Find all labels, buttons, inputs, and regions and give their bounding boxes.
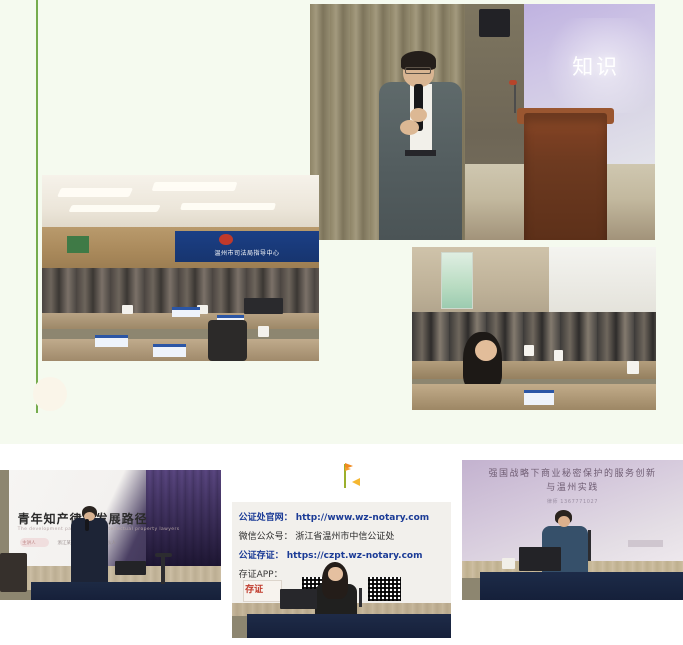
photo-notary-slide-scene: 公证处官网： http://www.wz-notary.com 微信公众号： 浙… [232, 502, 451, 638]
name-plate-front [524, 390, 553, 404]
flag-right-icon [352, 478, 360, 486]
front-table [480, 572, 683, 600]
article-page: 知识 [0, 0, 683, 645]
cream-circle-decoration [33, 377, 67, 411]
slide-title-line-2: 与温州实践 [469, 480, 677, 493]
name-plate-4 [153, 344, 186, 356]
audience-laptop [244, 298, 283, 315]
green-vertical-rule [36, 0, 38, 413]
paper-cup-1 [122, 305, 133, 314]
slide-line-app: 存证APP： [239, 567, 283, 580]
ceiling-light-3 [68, 205, 160, 212]
national-emblem-icon [219, 234, 233, 245]
wall-poster [441, 252, 472, 309]
slide-badge-text: 主讲人 [22, 540, 36, 546]
microphone-stand-head [155, 553, 173, 557]
stage-banner-text: 温州市司法局指导中心 [181, 248, 314, 257]
speaker-hand-lower [400, 120, 419, 135]
ceiling-light-4 [180, 203, 276, 210]
wooden-podium [524, 113, 607, 240]
table-laptop [280, 589, 317, 609]
speaker-glasses [405, 67, 431, 75]
slide-line-website: 公证处官网： http://www.wz-notary.com [239, 510, 430, 523]
qr-code-2 [368, 577, 401, 601]
paper-cup [502, 558, 515, 569]
paper-cup-a [524, 345, 534, 356]
side-podium [0, 553, 27, 592]
slide-note-text: 律师 1367771027 [469, 498, 677, 505]
photo-audience-wide-scene: 温州市司法局指导中心 [42, 175, 319, 361]
name-plate-1 [172, 307, 200, 317]
slide-title-line-1: 强国战略下商业秘密保护的服务创新 [469, 466, 677, 479]
slide-line-evidence: 公证存证： https://czpt.wz-notary.com [239, 548, 423, 561]
table-laptop [519, 547, 561, 571]
room-window [549, 247, 656, 322]
speaker-face [328, 567, 342, 581]
speaker-belt [405, 150, 436, 156]
flag-top-secondary-icon [345, 467, 351, 471]
slide-side-strip [628, 540, 663, 547]
paper-cup-3 [258, 326, 269, 337]
desk-microphone [588, 530, 591, 561]
front-table [31, 582, 221, 600]
photo-audience-wide[interactable]: 温州市司法局指导中心 [42, 175, 319, 361]
wall-green-panel [67, 236, 89, 253]
slide-city-graphic [146, 470, 221, 566]
name-plate-3 [95, 335, 128, 347]
front-table [247, 614, 451, 638]
speaker-body [71, 518, 109, 586]
handheld-microphone [85, 519, 89, 531]
podium-microphone-head [509, 80, 517, 85]
orange-flag-marker[interactable] [340, 462, 362, 488]
desk-row-back [412, 361, 656, 379]
app-logo-text: 存证 [245, 582, 263, 595]
photo-notary-slide[interactable]: 公证处官网： http://www.wz-notary.com 微信公众号： 浙… [232, 502, 451, 638]
photo-audience-close[interactable] [412, 247, 656, 410]
desk-microphone [359, 588, 362, 607]
photo-audience-close-scene [412, 247, 656, 410]
slide-line-wechat: 微信公众号： 浙江省温州市中信公证处 [239, 529, 395, 542]
paper-cup-b [554, 350, 564, 361]
photo-speaker-podium-scene: 知识 [310, 4, 655, 240]
photo-speaker-podium[interactable]: 知识 [310, 4, 655, 240]
podium-microphone-stem [514, 84, 516, 112]
photo-speaker-dev-path[interactable]: 青年知产律师发展路径 The development path of young… [0, 470, 221, 600]
microphone-stand [161, 556, 164, 585]
photo-collage-panel: 知识 [0, 0, 683, 444]
photo-speaker-dev-path-scene: 青年知产律师发展路径 The development path of young… [0, 470, 221, 600]
table-laptop [115, 561, 146, 575]
ceiling-light-1 [57, 188, 133, 197]
photo-speaker-trade-secret-scene: 强国战略下商业秘密保护的服务创新 与温州实践 律师 1367771027 [462, 460, 683, 600]
audience-chair [208, 320, 247, 361]
paper-cup-c [627, 361, 639, 374]
ceiling-speaker-box [479, 9, 510, 37]
ceiling-light-2 [151, 182, 237, 191]
projection-screen-text: 知识 [572, 51, 620, 81]
photo-speaker-trade-secret[interactable]: 强国战略下商业秘密保护的服务创新 与温州实践 律师 1367771027 [462, 460, 683, 600]
